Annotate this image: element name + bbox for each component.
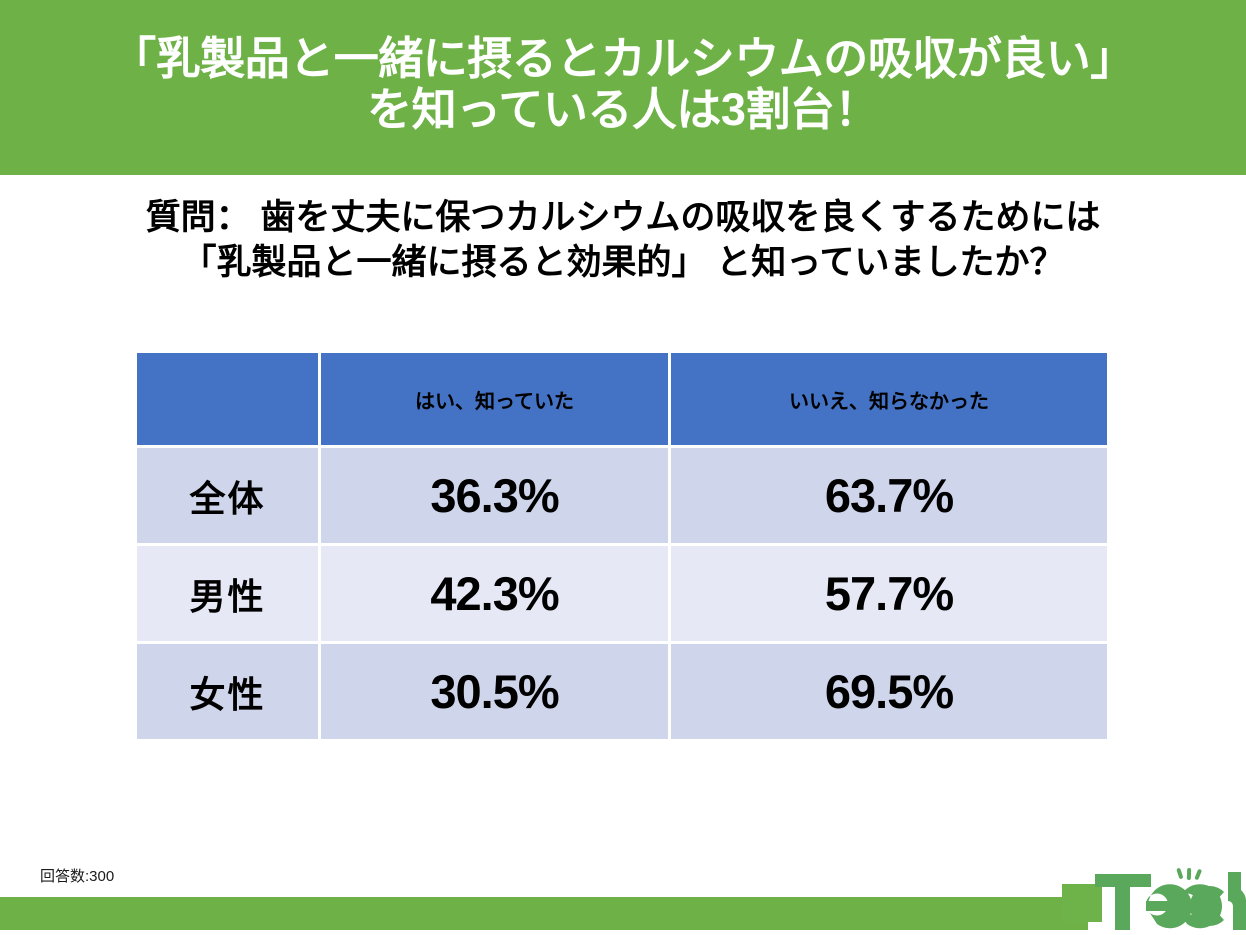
value-total-no: 63.7%: [671, 448, 1107, 543]
row-label-male: 男性: [137, 546, 318, 641]
sparkle-icon: [1176, 868, 1202, 880]
row-label-female: 女性: [137, 644, 318, 739]
title-banner: 「乳製品と一緒に摂るとカルシウムの吸収が良い」 を知っている人は3割台！: [0, 0, 1246, 175]
results-table: はい、知っていた いいえ、知らなかった 全体 36.3% 63.7% 男性 42…: [134, 350, 1110, 742]
table-header-row: はい、知っていた いいえ、知らなかった: [137, 353, 1107, 445]
value-female-no: 69.5%: [671, 644, 1107, 739]
row-label-total: 全体: [137, 448, 318, 543]
column-header-yes: はい、知っていた: [321, 353, 668, 445]
value-female-yes: 30.5%: [321, 644, 668, 739]
logo-letter-t: [1095, 874, 1151, 930]
table-row: 男性 42.3% 57.7%: [137, 546, 1107, 641]
sample-size-note: 回答数:300: [40, 865, 114, 886]
value-male-no: 57.7%: [671, 546, 1107, 641]
table-row: 女性 30.5% 69.5%: [137, 644, 1107, 739]
bottom-green-bar: [0, 897, 1088, 930]
teech-logo: [1062, 868, 1246, 930]
column-header-no: いいえ、知らなかった: [671, 353, 1107, 445]
question-line-2: 「乳製品と一緒に摂ると効果的」 と知っていましたか？: [0, 241, 1246, 286]
logo-letter-h: [1228, 872, 1246, 930]
column-header-blank: [137, 353, 318, 445]
banner-title-line-1: 「乳製品と一緒に摂るとカルシウムの吸収が良い」: [111, 34, 1135, 84]
logo-square-icon: [1062, 884, 1102, 922]
banner-title-line-2: を知っている人は3割台！: [367, 85, 879, 135]
results-table-container: はい、知っていた いいえ、知らなかった 全体 36.3% 63.7% 男性 42…: [134, 350, 1104, 742]
value-male-yes: 42.3%: [321, 546, 668, 641]
table-row: 全体 36.3% 63.7%: [137, 448, 1107, 543]
logo-letter-e-1-bar: [1146, 901, 1172, 911]
question-line-1: 質問： 歯を丈夫に保つカルシウムの吸収を良くするためには: [0, 196, 1246, 241]
question-block: 質問： 歯を丈夫に保つカルシウムの吸収を良くするためには 「乳製品と一緒に摂ると…: [0, 196, 1246, 286]
value-total-yes: 36.3%: [321, 448, 668, 543]
